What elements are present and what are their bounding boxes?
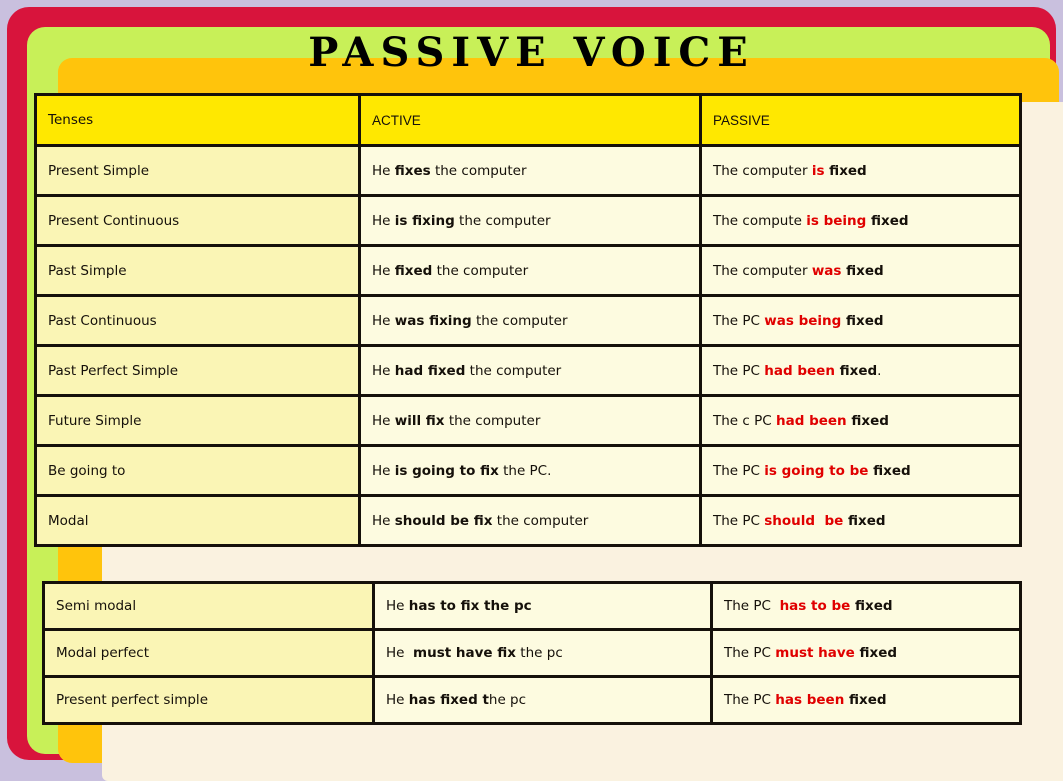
column-header-tenses: Tenses (36, 95, 360, 146)
table-header-row: Tenses ACTIVE PASSIVE (36, 95, 1021, 146)
extra-passive-cell: The PC must have fixed (712, 630, 1021, 677)
extra-passive-cell: The PC has to be fixed (712, 583, 1021, 630)
main-passive-cell: The PC is going to be fixed (701, 446, 1021, 496)
extra-tense-cell: Modal perfect (44, 630, 374, 677)
extra-tense-cell: Semi modal (44, 583, 374, 630)
table-row: Present SimpleHe fixes the computerThe c… (36, 146, 1021, 196)
table-row: Modal perfectHe must have fix the pcThe … (44, 630, 1021, 677)
main-tense-cell: Present Continuous (36, 196, 360, 246)
page-title: PASSIVE VOICE (0, 30, 1063, 76)
main-tense-cell: Be going to (36, 446, 360, 496)
table-row: Past ContinuousHe was fixing the compute… (36, 296, 1021, 346)
table-row: Past SimpleHe fixed the computerThe comp… (36, 246, 1021, 296)
main-passive-cell: The computer is fixed (701, 146, 1021, 196)
main-active-cell: He fixes the computer (360, 146, 701, 196)
extra-active-cell: He has fixed the pc (374, 677, 712, 724)
table-row: Present ContinuousHe is fixing the compu… (36, 196, 1021, 246)
column-header-passive: PASSIVE (701, 95, 1021, 146)
main-active-cell: He should be fix the computer (360, 496, 701, 546)
main-active-cell: He fixed the computer (360, 246, 701, 296)
main-passive-cell: The c PC had been fixed (701, 396, 1021, 446)
main-active-cell: He is fixing the computer (360, 196, 701, 246)
main-tense-cell: Present Simple (36, 146, 360, 196)
main-passive-cell: The compute is being fixed (701, 196, 1021, 246)
main-tense-cell: Modal (36, 496, 360, 546)
passive-voice-main-table: Tenses ACTIVE PASSIVE Present SimpleHe f… (34, 93, 1022, 547)
extra-active-cell: He has to fix the pc (374, 583, 712, 630)
extra-active-cell: He must have fix the pc (374, 630, 712, 677)
table-row: Past Perfect SimpleHe had fixed the comp… (36, 346, 1021, 396)
main-active-cell: He had fixed the computer (360, 346, 701, 396)
table-row: Present perfect simpleHe has fixed the p… (44, 677, 1021, 724)
main-active-cell: He was fixing the computer (360, 296, 701, 346)
passive-voice-extra-table: Semi modalHe has to fix the pcThe PC has… (42, 581, 1022, 725)
table-row: Semi modalHe has to fix the pcThe PC has… (44, 583, 1021, 630)
table-row: Be going toHe is going to fix the PC.The… (36, 446, 1021, 496)
poster-sheet: PASSIVE VOICE Tenses ACTIVE PASSIVE Pres… (0, 0, 1063, 767)
main-passive-cell: The PC had been fixed. (701, 346, 1021, 396)
extra-tense-cell: Present perfect simple (44, 677, 374, 724)
extra-passive-cell: The PC has been fixed (712, 677, 1021, 724)
main-active-cell: He will fix the computer (360, 396, 701, 446)
main-passive-cell: The PC was being fixed (701, 296, 1021, 346)
table-row: Future SimpleHe will fix the computerThe… (36, 396, 1021, 446)
main-tense-cell: Past Simple (36, 246, 360, 296)
table-row: ModalHe should be fix the computerThe PC… (36, 496, 1021, 546)
main-tense-cell: Past Continuous (36, 296, 360, 346)
main-tense-cell: Past Perfect Simple (36, 346, 360, 396)
column-header-active: ACTIVE (360, 95, 701, 146)
main-tense-cell: Future Simple (36, 396, 360, 446)
main-passive-cell: The computer was fixed (701, 246, 1021, 296)
main-passive-cell: The PC should be fixed (701, 496, 1021, 546)
main-active-cell: He is going to fix the PC. (360, 446, 701, 496)
